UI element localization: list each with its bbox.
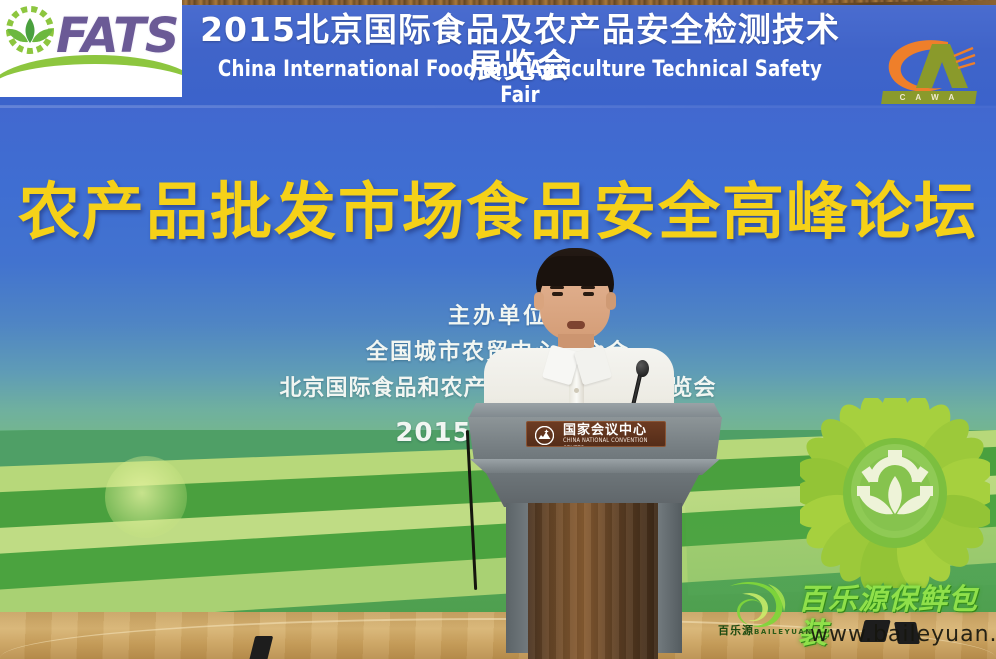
fats-logo: FATS xyxy=(0,0,182,103)
fats-underline xyxy=(0,97,182,103)
venue-sign-cn: 国家会议中心 xyxy=(563,424,647,438)
watermark-small-en: BAILEYUAN xyxy=(754,628,813,636)
banner-title-en: China International Food and Agriculture… xyxy=(216,57,823,109)
microphone-icon xyxy=(636,360,649,377)
cncc-emblem-icon xyxy=(535,426,554,445)
watermark-url: www.baileyuan.cn xyxy=(810,622,996,648)
forum-main-title: 农产品批发市场食品安全高峰论坛 xyxy=(0,176,996,248)
conference-photo: FATS 2015北京国际食品及农产品安全检测技术展览会 China Inter… xyxy=(0,0,996,659)
lectern: 国家会议中心 CHINA NATIONAL CONVENTION CENTER xyxy=(468,403,722,659)
cawa-logo: C A W A xyxy=(876,30,980,108)
venue-sign-en: CHINA NATIONAL CONVENTION CENTER xyxy=(563,437,660,447)
watermark-small-brand: 百乐源BAILEYUAN xyxy=(718,622,813,638)
cawa-bar: C A W A xyxy=(881,91,977,104)
watermark: 百乐源保鲜包装 百乐源BAILEYUAN www.baileyuan.cn xyxy=(706,578,996,654)
sun-circle-graphic xyxy=(105,456,187,538)
watermark-small-cn: 百乐源 xyxy=(718,624,754,637)
gear-leaf-icon xyxy=(2,6,58,62)
venue-sign: 国家会议中心 CHINA NATIONAL CONVENTION CENTER xyxy=(526,421,666,447)
cawa-letters: C A W A xyxy=(882,91,976,104)
